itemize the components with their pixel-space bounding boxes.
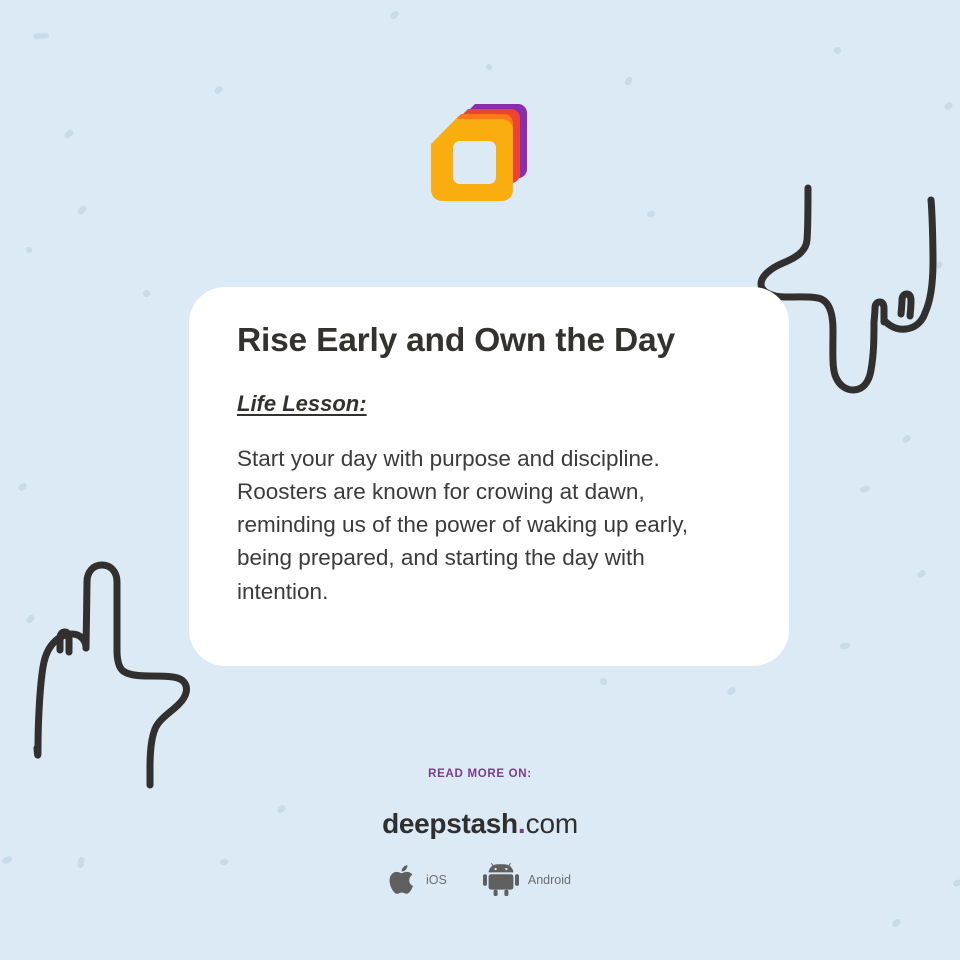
speckle (25, 614, 36, 625)
speckle (646, 209, 656, 218)
speckle (859, 484, 870, 493)
deepstash-wordmark[interactable]: deepstash.com (0, 810, 960, 838)
android-icon (483, 863, 519, 896)
content-card: Rise Early and Own the Day Life Lesson: … (189, 287, 789, 666)
speckle (943, 101, 954, 111)
speckle (63, 128, 74, 139)
poster-canvas: Rise Early and Own the Day Life Lesson: … (0, 0, 960, 960)
speckle (142, 289, 150, 297)
speckle (929, 276, 935, 282)
page-title: Rise Early and Own the Day (237, 321, 741, 361)
speckle (389, 10, 400, 21)
speckle (600, 678, 607, 685)
speckle (891, 918, 902, 928)
card-body-text: Start your day with purpose and discipli… (237, 442, 741, 608)
speckle (623, 76, 633, 87)
speckle (486, 64, 492, 70)
speckle (901, 434, 912, 444)
read-more-label: READ MORE ON: (0, 768, 960, 780)
apple-icon (389, 863, 417, 896)
speckle (840, 642, 851, 650)
ios-store-link[interactable]: iOS (389, 863, 447, 896)
speckle (934, 260, 944, 270)
speckle (26, 247, 32, 253)
speckle (834, 47, 841, 54)
wordmark-dot: . (518, 808, 526, 839)
speckle (76, 204, 87, 216)
wordmark-tld: com (526, 808, 578, 839)
card-subtitle: Life Lesson: (237, 391, 741, 417)
footer: READ MORE ON: deepstash.com iOS (0, 768, 960, 896)
ios-label: iOS (426, 873, 447, 887)
android-store-link[interactable]: Android (483, 863, 571, 896)
app-store-badges: iOS Android (0, 863, 960, 896)
speckle (33, 32, 49, 39)
android-label: Android (528, 873, 571, 887)
wordmark-name: deepstash (382, 808, 518, 839)
logo-inner-cutout (453, 141, 496, 184)
speckle (17, 482, 28, 492)
speckle (916, 569, 927, 580)
speckle (726, 686, 737, 696)
speckle (213, 85, 224, 96)
deepstash-logo (425, 100, 525, 200)
